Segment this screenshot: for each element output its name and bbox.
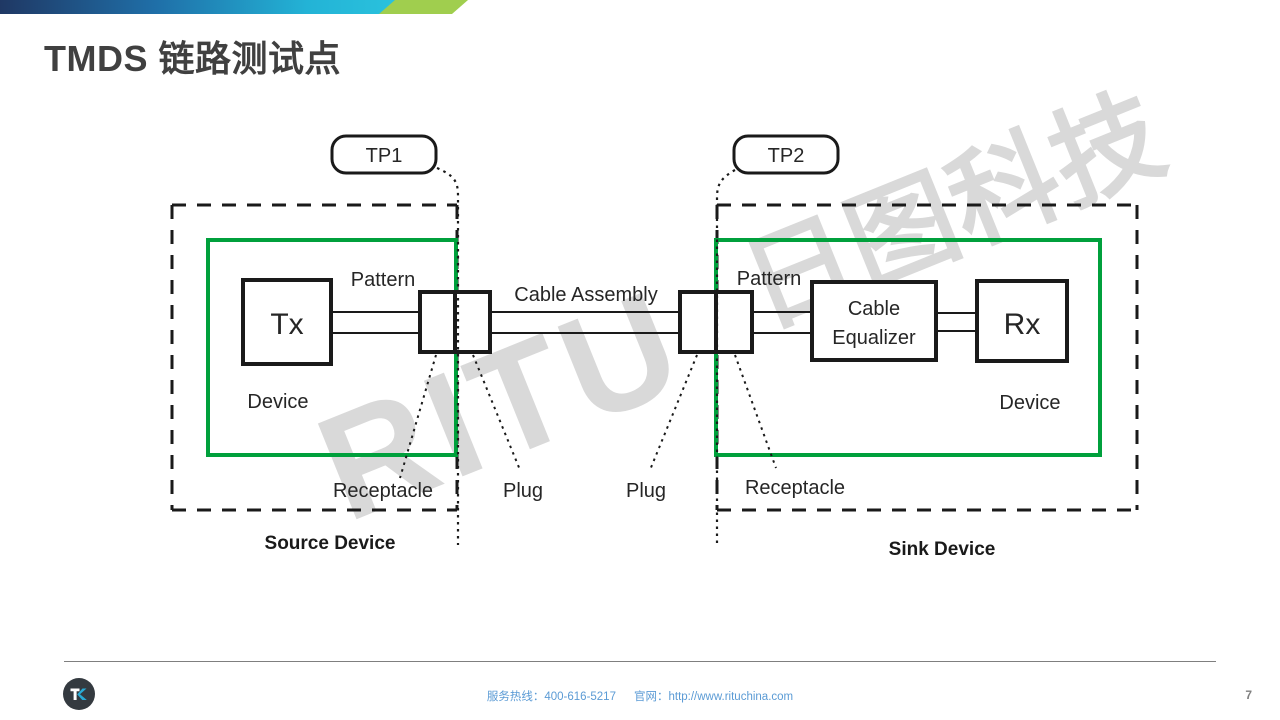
slide-root: TMDS 链路测试点 RITU 日图科技 Tx xyxy=(0,0,1280,720)
cable-equalizer-label-line2: Equalizer xyxy=(832,327,916,349)
source-receptacle-label: Receptacle xyxy=(333,480,433,502)
cable-equalizer-label-line1: Cable xyxy=(848,298,900,320)
source-device-caption: Source Device xyxy=(265,533,396,554)
source-pattern-label: Pattern xyxy=(351,269,415,291)
cable-assembly-label: Cable Assembly xyxy=(514,284,657,306)
svg-text:日图科技: 日图科技 xyxy=(727,71,1182,352)
footer-site-value[interactable]: http://www.rituchina.com xyxy=(668,691,793,703)
page-number: 7 xyxy=(1245,688,1252,702)
sink-receptacle-label: Receptacle xyxy=(745,477,845,499)
footer-site-label: 官网： xyxy=(634,691,669,703)
tp2-leader-line xyxy=(717,170,735,545)
sink-pattern-label: Pattern xyxy=(737,268,801,290)
tp2-label: TP2 xyxy=(768,145,805,167)
tmds-link-test-point-diagram: RITU 日图科技 Tx Pattern xyxy=(0,0,1280,660)
footer-divider xyxy=(64,661,1216,662)
footer-hotline-value: 400-616-5217 xyxy=(544,691,616,703)
sink-device-caption: Sink Device xyxy=(889,539,996,560)
tp1-label: TP1 xyxy=(366,145,403,167)
footer-contact: 服务热线：400-616-5217官网：http://www.rituchina… xyxy=(0,688,1280,704)
sink-plug-label: Plug xyxy=(626,480,666,502)
sink-device-label: Device xyxy=(999,392,1060,414)
sink-receptacle-leader xyxy=(735,355,776,468)
source-device-label: Device xyxy=(247,391,308,413)
tx-label: Tx xyxy=(270,308,303,341)
footer-hotline-label: 服务热线： xyxy=(487,691,545,703)
rx-label: Rx xyxy=(1004,308,1041,341)
source-plug-label: Plug xyxy=(503,480,543,502)
